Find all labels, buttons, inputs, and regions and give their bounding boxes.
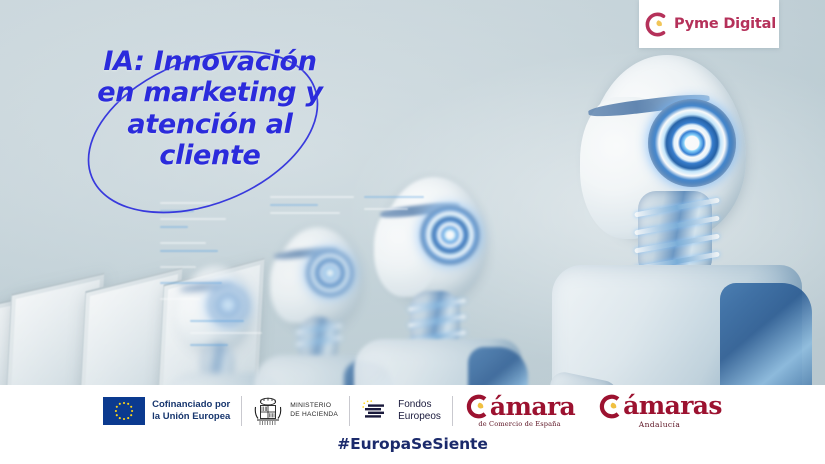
promo-banner: IA: Innovación en marketing y atención a… <box>0 0 825 464</box>
fondos-europeos-icon <box>361 399 391 423</box>
fondos-label-line-2: Europeos <box>398 411 441 423</box>
page-title: IA: Innovación en marketing y atención a… <box>62 46 358 171</box>
footer-bar: Cofinanciado por la Unión Europea <box>0 385 825 464</box>
pyme-digital-wordmark: Pyme Digital <box>674 16 776 32</box>
fondos-label-line-1: Fondos <box>398 399 441 411</box>
camara-c-icon <box>597 394 622 419</box>
robot-shoulder-plate <box>720 283 812 385</box>
logo-camaras-andalucia: ámaras Andalucía <box>586 391 733 431</box>
eu-label-line-1: Cofinanciado por <box>152 399 230 411</box>
spain-coat-of-arms-icon <box>253 396 283 427</box>
robot-temple-light-icon <box>648 99 736 187</box>
camara-wordmark-row: ámara <box>464 394 575 419</box>
footer-logo-strip: Cofinanciado por la Unión Europea <box>0 388 825 434</box>
eu-flag-icon <box>103 397 145 425</box>
ministerio-label-line-2: DE HACIENDA <box>290 411 338 420</box>
pyme-digital-logo[interactable]: Pyme Digital <box>639 0 779 48</box>
camaras-wordmark-row: ámaras <box>597 394 722 419</box>
camaras-wordmark: ámaras <box>623 394 722 418</box>
logo-fondos-europeos: Fondos Europeos <box>350 391 452 431</box>
hero-image: IA: Innovación en marketing y atención a… <box>0 0 825 385</box>
robot-temple-light-icon <box>306 249 354 297</box>
logo-camara-de-comercio: ámara de Comercio de España <box>453 391 586 431</box>
headline-group: IA: Innovación en marketing y atención a… <box>62 40 362 220</box>
camaras-logo-block: ámaras Andalucía <box>597 394 722 429</box>
camara-wordmark: ámara <box>490 395 575 419</box>
campaign-hashtag: #EuropaSeSiente <box>0 435 825 453</box>
headline-line-2: en marketing y <box>62 77 358 108</box>
headline-line-4: cliente <box>62 140 358 171</box>
headline-line-3: atención al <box>62 109 358 140</box>
ministerio-logo-label: MINISTERIO DE HACIENDA <box>290 402 338 419</box>
fondos-europeos-label: Fondos Europeos <box>398 399 441 423</box>
pyme-c-icon <box>642 12 667 37</box>
headline-line-1: IA: Innovación <box>62 46 358 77</box>
logo-european-union: Cofinanciado por la Unión Europea <box>92 391 241 431</box>
logo-ministerio-de-hacienda: MINISTERIO DE HACIENDA <box>242 391 349 431</box>
eu-logo-label: Cofinanciado por la Unión Europea <box>152 399 230 422</box>
camara-subtitle: de Comercio de España <box>478 420 560 428</box>
camaras-subtitle: Andalucía <box>639 420 680 429</box>
camara-logo-block: ámara de Comercio de España <box>464 394 575 428</box>
eu-label-line-2: la Unión Europea <box>152 411 230 423</box>
robot-temple-light-icon <box>420 205 480 265</box>
camara-c-icon <box>464 394 489 419</box>
robot-temple-light-icon <box>208 285 248 325</box>
ministerio-label-line-1: MINISTERIO <box>290 402 338 411</box>
